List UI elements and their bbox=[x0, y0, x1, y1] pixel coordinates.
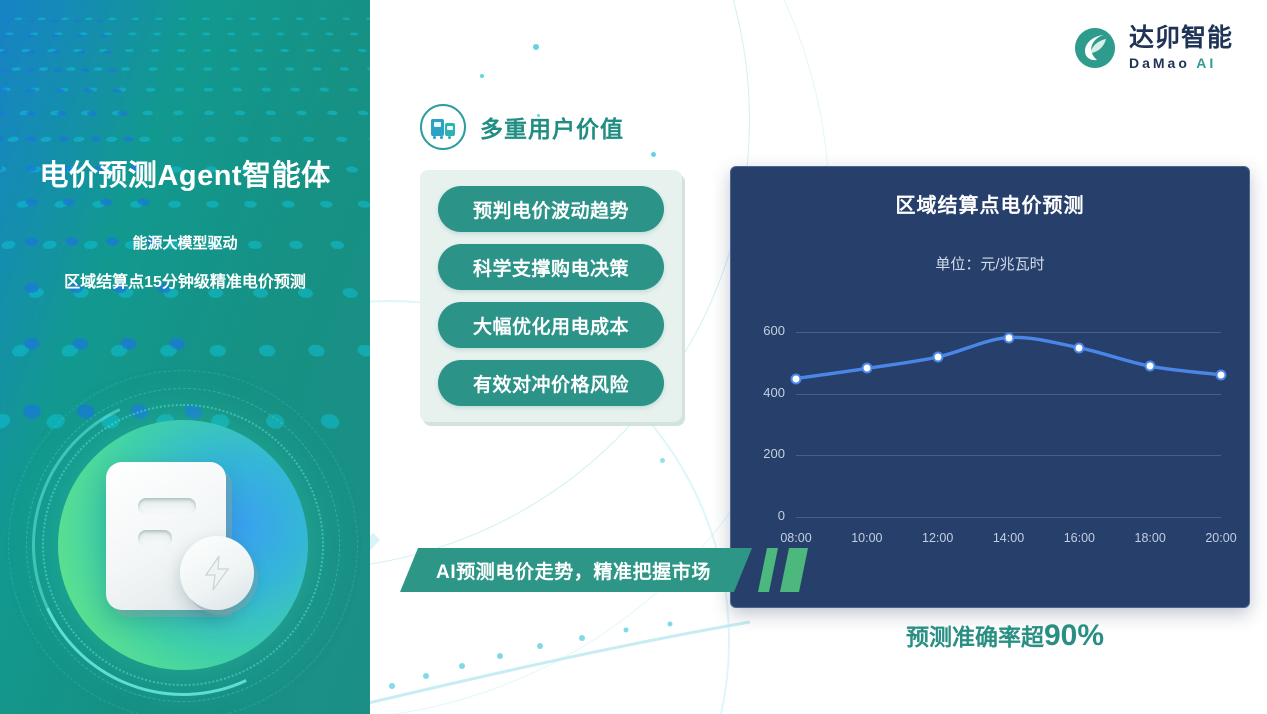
banner-slash bbox=[758, 548, 778, 592]
logo-name-en-brand: DaMao bbox=[1129, 55, 1190, 71]
price-forecast-chart-card: 区域结算点电价预测 单位：元/兆瓦时 020040060008:0010:001… bbox=[730, 166, 1250, 608]
main-content-area: 达卯智能 DaMao AI 多重用户价值 预判电价波动趋势 科学支撑购电决策 大… bbox=[370, 0, 1267, 714]
chart-plot-area: 020040060008:0010:0012:0014:0016:0018:00… bbox=[731, 289, 1250, 539]
accuracy-statement: 预测准确率超90% bbox=[840, 618, 1170, 653]
factory-buildings-icon bbox=[420, 104, 466, 150]
chart-line-series bbox=[731, 289, 1250, 539]
bolt-icon bbox=[204, 556, 230, 590]
chart-data-point[interactable] bbox=[861, 363, 872, 374]
document-bolt-icon bbox=[106, 462, 256, 627]
section-title: 多重用户价值 bbox=[480, 110, 624, 144]
section-header: 多重用户价值 bbox=[420, 104, 624, 150]
chart-x-tick-label: 20:00 bbox=[1191, 531, 1250, 545]
logo-name-en: DaMao AI bbox=[1129, 56, 1233, 70]
banner-text: AI预测电价走势，精准把握市场 bbox=[436, 557, 711, 584]
value-pill[interactable]: 有效对冲价格风险 bbox=[438, 360, 664, 406]
accuracy-prefix: 预测准确率超 bbox=[906, 624, 1044, 650]
chart-data-point[interactable] bbox=[1145, 361, 1156, 372]
chart-x-tick-label: 10:00 bbox=[837, 531, 897, 545]
decorative-dot bbox=[533, 44, 539, 50]
page-title: 电价预测Agent智能体 bbox=[0, 152, 370, 194]
factory-buildings-glyph bbox=[429, 114, 457, 140]
decorative-dot-stream bbox=[370, 600, 750, 714]
document-line-short bbox=[138, 530, 172, 546]
document-line-long bbox=[138, 498, 196, 514]
chart-data-point[interactable] bbox=[1003, 332, 1014, 343]
banner-body: AI预测电价走势，精准把握市场 bbox=[400, 548, 752, 592]
highlight-banner: AI预测电价走势，精准把握市场 bbox=[400, 548, 792, 592]
value-pill-list: 预判电价波动趋势 科学支撑购电决策 大幅优化用电成本 有效对冲价格风险 bbox=[420, 170, 682, 422]
chart-subtitle: 单位：元/兆瓦时 bbox=[731, 253, 1249, 274]
decorative-dot bbox=[660, 458, 665, 463]
chart-data-point[interactable] bbox=[1216, 369, 1227, 380]
decorative-dot bbox=[651, 152, 656, 157]
chart-x-tick-label: 12:00 bbox=[908, 531, 968, 545]
decorative-dot bbox=[480, 74, 484, 78]
logo-text: 达卯智能 DaMao AI bbox=[1129, 26, 1233, 70]
left-hero-panel: 电价预测Agent智能体 能源大模型驱动 区域结算点15分钟级精准电价预测 bbox=[0, 0, 370, 714]
page-subtitle-line1: 能源大模型驱动 bbox=[0, 232, 370, 253]
chart-title: 区域结算点电价预测 bbox=[731, 189, 1249, 218]
chart-data-point[interactable] bbox=[1074, 342, 1085, 353]
value-pill[interactable]: 大幅优化用电成本 bbox=[438, 302, 664, 348]
chart-x-tick-label: 16:00 bbox=[1049, 531, 1109, 545]
value-pill[interactable]: 科学支撑购电决策 bbox=[438, 244, 664, 290]
chart-data-point[interactable] bbox=[791, 373, 802, 384]
logo-name-en-ai: AI bbox=[1196, 55, 1216, 71]
chart-data-point[interactable] bbox=[932, 352, 943, 363]
hero-illustration bbox=[38, 400, 338, 700]
logo-name-cn: 达卯智能 bbox=[1129, 26, 1233, 51]
chart-x-tick-label: 14:00 bbox=[979, 531, 1039, 545]
page-subtitle-line2: 区域结算点15分钟级精准电价预测 bbox=[0, 268, 370, 292]
accuracy-value: 90% bbox=[1044, 619, 1104, 652]
damao-leaf-logo-icon bbox=[1073, 26, 1117, 70]
bolt-badge-circle bbox=[180, 536, 254, 610]
value-pill[interactable]: 预判电价波动趋势 bbox=[438, 186, 664, 232]
chart-x-tick-label: 18:00 bbox=[1120, 531, 1180, 545]
chart-x-tick-label: 08:00 bbox=[766, 531, 826, 545]
brand-logo: 达卯智能 DaMao AI bbox=[1073, 26, 1233, 70]
